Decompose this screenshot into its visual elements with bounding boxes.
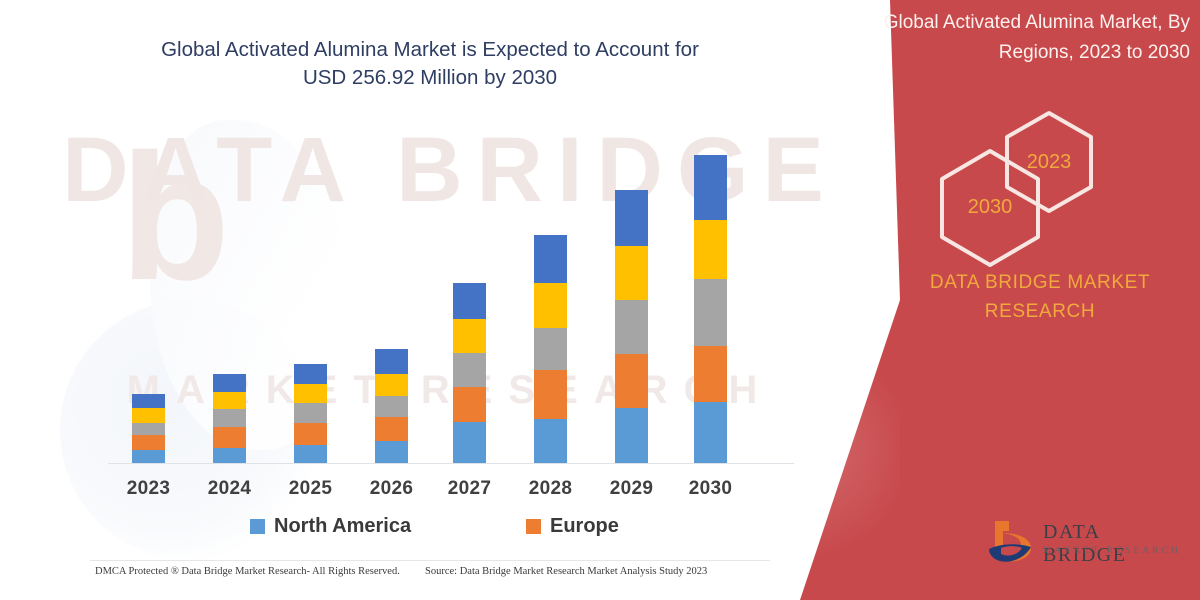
brand-name-line1: DATA BRIDGE MARKET xyxy=(930,272,1150,293)
x-axis-label-2026: 2026 xyxy=(347,478,437,500)
bar-segment xyxy=(453,283,486,319)
bar-segment xyxy=(534,283,567,328)
legend-swatch-icon xyxy=(526,519,541,534)
legend-label: North America xyxy=(274,515,411,538)
bar-segment xyxy=(375,374,408,396)
logo-mark-icon xyxy=(985,515,1041,571)
bar-segment xyxy=(453,319,486,353)
bar-segment xyxy=(615,246,648,301)
bar-segment xyxy=(213,427,246,448)
bar-segment xyxy=(294,423,327,446)
bar-segment xyxy=(453,387,486,422)
bar-segment xyxy=(375,396,408,417)
footer-divider xyxy=(90,560,770,561)
bar-segment xyxy=(294,364,327,384)
bar-segment xyxy=(694,279,727,346)
logo-text-secondary: MARKET RESEARCH xyxy=(1043,545,1181,555)
brand-name: DATA BRIDGE MARKET RESEARCH xyxy=(900,268,1180,326)
bar-column-2026 xyxy=(375,349,408,463)
legend-swatch-icon xyxy=(250,519,265,534)
bar-segment xyxy=(294,445,327,463)
x-axis-label-2024: 2024 xyxy=(185,478,275,500)
bar-segment xyxy=(694,155,727,220)
bar-segment xyxy=(213,392,246,410)
bar-segment xyxy=(375,441,408,463)
data-bridge-logo: DATA BRIDGE MARKET RESEARCH xyxy=(985,515,1185,577)
bar-segment xyxy=(534,328,567,370)
chart-baseline-axis xyxy=(108,463,794,464)
bar-segment xyxy=(694,402,727,463)
right-panel-title-line2: Regions, 2023 to 2030 xyxy=(999,42,1190,63)
bar-column-2029 xyxy=(615,190,648,463)
bar-segment xyxy=(615,300,648,354)
brand-name-line2: RESEARCH xyxy=(985,301,1095,322)
legend-item-north-america[interactable]: North America xyxy=(250,515,411,538)
bar-segment xyxy=(534,419,567,463)
bar-segment xyxy=(132,408,165,422)
bar-segment xyxy=(615,408,648,463)
bar-segment xyxy=(694,220,727,279)
bar-segment xyxy=(213,409,246,427)
bar-segment xyxy=(132,423,165,435)
x-axis-label-2023: 2023 xyxy=(104,478,194,500)
x-axis-label-2025: 2025 xyxy=(266,478,356,500)
bar-segment xyxy=(294,384,327,404)
x-axis-label-2030: 2030 xyxy=(666,478,756,500)
x-axis-label-2027: 2027 xyxy=(425,478,515,500)
bar-segment xyxy=(213,448,246,463)
footer-source: Source: Data Bridge Market Research Mark… xyxy=(425,566,707,577)
legend-item-europe[interactable]: Europe xyxy=(526,515,619,538)
bar-column-2023 xyxy=(132,394,165,463)
bar-segment xyxy=(294,403,327,423)
bar-column-2030 xyxy=(694,155,727,463)
bar-segment xyxy=(132,435,165,449)
bar-segment xyxy=(132,394,165,408)
bar-segment xyxy=(375,349,408,375)
logo-text-primary: DATA BRIDGE xyxy=(1043,521,1185,567)
x-axis-label-2029: 2029 xyxy=(587,478,677,500)
bar-segment xyxy=(615,354,648,409)
hexagon-badge-2030: 2030 xyxy=(937,148,1043,268)
right-panel-title: Global Activated Alumina Market, By Regi… xyxy=(845,8,1190,68)
stacked-bar-chart: 20232024202520262027202820292030 North A… xyxy=(0,0,900,600)
legend-label: Europe xyxy=(550,515,619,538)
bar-segment xyxy=(375,417,408,442)
bar-column-2024 xyxy=(213,374,246,463)
bar-segment xyxy=(694,346,727,403)
bar-column-2027 xyxy=(453,283,486,463)
bar-segment xyxy=(453,422,486,463)
infographic-canvas: b DATA BRIDGE MARKET RESEARCH Global Act… xyxy=(0,0,1200,600)
bar-column-2028 xyxy=(534,235,567,463)
left-panel: b DATA BRIDGE MARKET RESEARCH Global Act… xyxy=(0,0,900,600)
bar-segment xyxy=(213,374,246,392)
bar-column-2025 xyxy=(294,364,327,463)
x-axis-label-2028: 2028 xyxy=(506,478,596,500)
bar-segment xyxy=(534,235,567,282)
bar-segment xyxy=(453,353,486,387)
footer-copyright: DMCA Protected ® Data Bridge Market Rese… xyxy=(95,566,400,577)
bar-segment xyxy=(534,370,567,418)
chart-legend: North AmericaEurope xyxy=(108,512,794,542)
bar-segment xyxy=(615,190,648,246)
bar-segment xyxy=(132,450,165,463)
right-panel-title-line1: Global Activated Alumina Market, By xyxy=(884,12,1190,33)
hexagon-badge-2030-label: 2030 xyxy=(937,196,1043,219)
